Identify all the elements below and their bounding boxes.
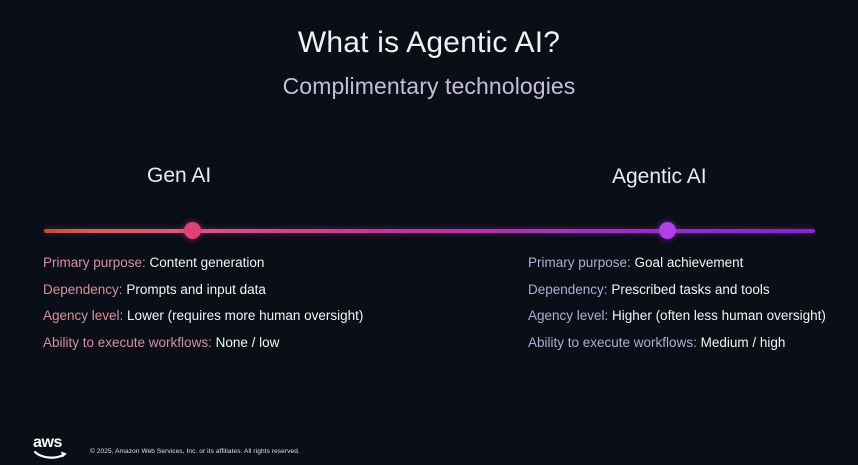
attribute-label: Agency level: [43,308,123,323]
aws-wordmark: aws [33,435,62,451]
page-subtitle: Complimentary technologies [0,73,858,99]
column-heading-agentic-ai: Agentic AI [612,165,707,189]
attribute-value: Goal achievement [631,255,744,270]
attribute-row: Agency level: Lower (requires more human… [43,309,363,323]
attribute-value: Prompts and input data [123,282,266,297]
copyright-text: © 2025, Amazon Web Services, Inc. or its… [90,448,300,455]
attribute-value: Prescribed tasks and tools [608,282,770,297]
attribute-label: Ability to execute workflows: [43,335,212,350]
attribute-list-agentic-ai: Primary purpose: Goal achievement Depend… [528,256,826,349]
slide-canvas: What is Agentic AI? Complimentary techno… [0,0,858,462]
attribute-label: Dependency: [528,282,608,297]
aws-logo: aws [33,435,75,465]
attribute-value: Medium / high [697,335,786,350]
spectrum-marker-gen-ai [184,222,201,239]
attribute-value: Higher (often less human oversight) [608,308,826,323]
spectrum-marker-agentic-ai [659,222,676,239]
attribute-value: Lower (requires more human oversight) [123,308,363,323]
attribute-label: Primary purpose: [43,255,146,270]
attribute-row: Agency level: Higher (often less human o… [528,309,826,323]
attribute-row: Ability to execute workflows: Medium / h… [528,336,826,350]
spectrum-scale [44,222,815,240]
attribute-value: Content generation [146,255,265,270]
attribute-value: None / low [212,335,280,350]
attribute-label: Ability to execute workflows: [528,335,697,350]
attribute-row: Primary purpose: Content generation [43,256,363,270]
attribute-label: Agency level: [528,308,608,323]
column-heading-gen-ai: Gen AI [147,164,211,188]
attribute-label: Primary purpose: [528,255,631,270]
attribute-row: Ability to execute workflows: None / low [43,336,363,350]
spectrum-gradient-line [44,229,815,233]
attribute-row: Dependency: Prescribed tasks and tools [528,283,826,297]
page-title: What is Agentic AI? [0,26,858,59]
attribute-row: Dependency: Prompts and input data [43,283,363,297]
attribute-row: Primary purpose: Goal achievement [528,256,826,270]
slide-footer: aws © 2025, Amazon Web Services, Inc. or… [0,428,858,462]
attribute-list-gen-ai: Primary purpose: Content generation Depe… [43,256,363,349]
attribute-label: Dependency: [43,282,123,297]
